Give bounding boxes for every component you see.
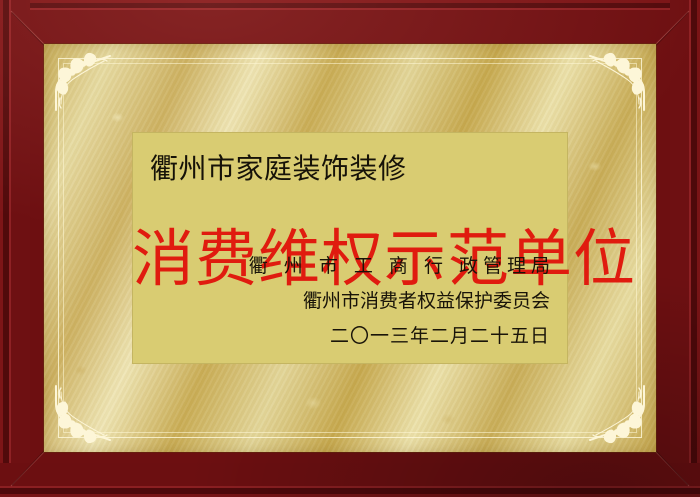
signature-block: 衢 州 市 工 商 行 政管理局 衢州市消费者权益保护委员会 二〇一三年二月二十… (249, 257, 550, 346)
award-plaque: 衢州市家庭装饰装修 消费维权示范单位 衢 州 市 工 商 行 政管理局 衢州市消… (0, 0, 700, 497)
floral-ornament-icon-top-left (52, 52, 114, 114)
floral-ornament-icon-bottom-left (52, 382, 114, 444)
plaque-heading: 衢州市家庭装饰装修 (150, 154, 407, 185)
floral-ornament-icon-bottom-right (586, 382, 648, 444)
issuing-committee-line: 衢州市消费者权益保护委员会 (249, 292, 550, 311)
gold-border: 衢州市家庭装饰装修 消费维权示范单位 衢 州 市 工 商 行 政管理局 衢州市消… (44, 44, 656, 452)
plaque-face: 衢州市家庭装饰装修 消费维权示范单位 衢 州 市 工 商 行 政管理局 衢州市消… (132, 132, 568, 364)
floral-ornament-icon-top-right (586, 52, 648, 114)
issue-date-line: 二〇一三年二月二十五日 (249, 327, 550, 346)
issuing-authority-line: 衢 州 市 工 商 行 政管理局 (249, 257, 555, 276)
